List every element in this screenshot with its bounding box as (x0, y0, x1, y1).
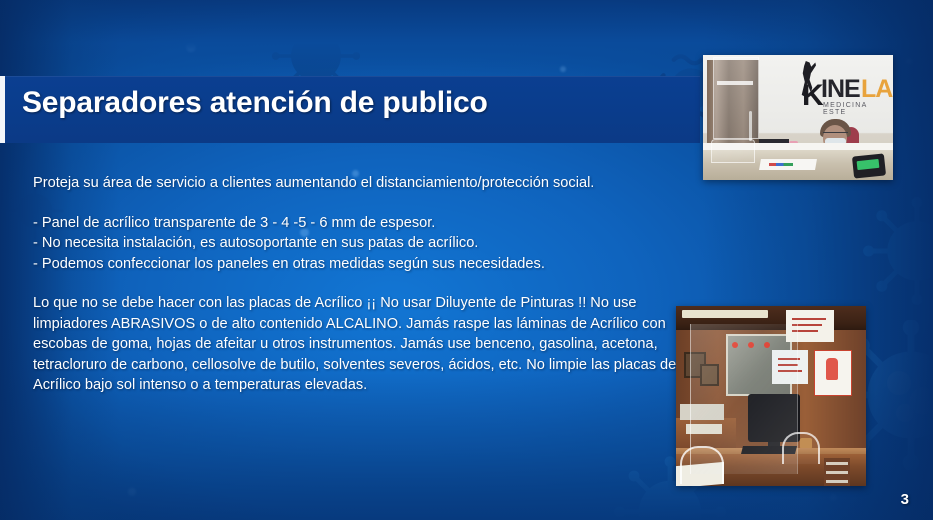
photo-drawer-handle (826, 480, 848, 483)
photo-drawer-handle (826, 462, 848, 465)
photo-acrylic-shield-foot (711, 139, 755, 163)
reception-desk-photo: K INE LA MEDICINA ESTE (703, 55, 893, 180)
slide-body: Proteja su área de servicio a clientes a… (33, 173, 681, 396)
photo-acrylic-shield-foot (680, 446, 724, 484)
photo-poster-icon (826, 358, 838, 380)
page-number: 3 (901, 491, 909, 508)
presentation-slide: Separadores atención de publico Proteja … (0, 0, 933, 520)
bullet-item: - No necesita instalación, es autosoport… (33, 233, 681, 254)
photo-pens (769, 163, 793, 166)
warning-paragraph: Lo que no se debe hacer con las placas d… (33, 293, 681, 396)
paragraph-spacer (33, 194, 681, 213)
brand-logo-la: LA (861, 77, 892, 102)
photo-acrylic-shield-bar (717, 81, 753, 85)
photo-ceiling-light (682, 310, 768, 318)
bullet-item: - Panel de acrílico transparente de 3 - … (33, 213, 681, 234)
title-accent-bar (0, 76, 5, 143)
office-desk-photo (676, 306, 866, 486)
brand-logo-subtitle: MEDICINA ESTE (823, 102, 893, 116)
page-title: Separadores atención de publico (22, 86, 682, 120)
paragraph-spacer (33, 274, 681, 293)
intro-paragraph: Proteja su área de servicio a clientes a… (33, 173, 681, 194)
photo-acrylic-shield-foot (782, 432, 820, 464)
photo-drawer-handle (826, 471, 848, 474)
photo-acrylic-shield (713, 57, 759, 139)
bullet-item: - Podemos confeccionar los paneles en ot… (33, 254, 681, 275)
photo-notice-line (792, 318, 826, 320)
brand-logo-ine: INE (821, 77, 860, 102)
